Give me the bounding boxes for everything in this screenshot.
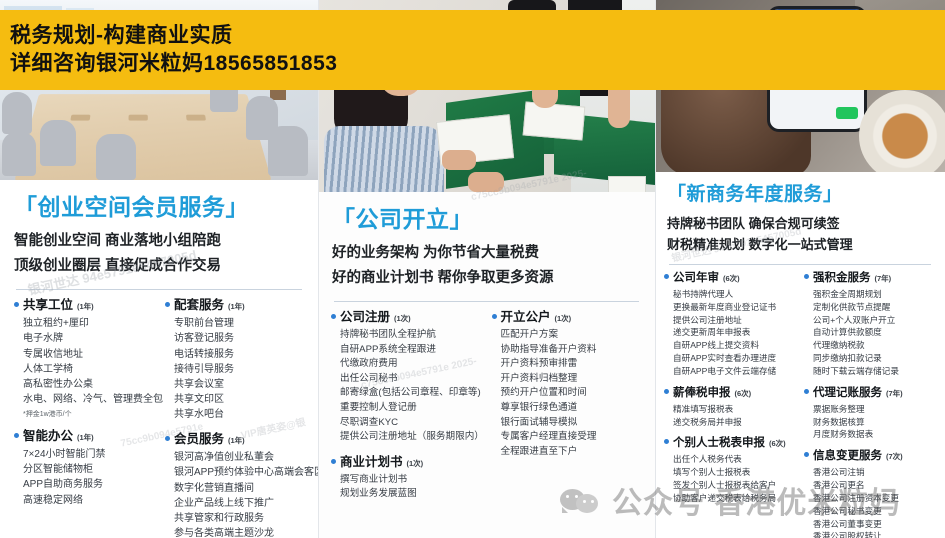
- list-item: 同步缴纳扣款记录: [813, 352, 936, 365]
- banner-line-2: 详细咨询银河米粒妈18565851853: [10, 50, 935, 78]
- list-item: 专职前台管理: [174, 316, 304, 331]
- bullet-icon: [664, 439, 669, 444]
- list-item: APP自助商务服务: [23, 477, 153, 492]
- startup-space-groups: 共享工位 (1年) 独立租约+厘印 电子水牌 专属收信地址 人体工学椅 高私密性…: [0, 290, 318, 538]
- promo-infographic: 「创业空间会员服务」 智能创业空间 商业落地小组陪跑 顶级创业圈层 直接促成合作…: [0, 0, 945, 538]
- list-item: 共享水吧台: [174, 407, 304, 422]
- bullet-icon: [804, 452, 809, 457]
- startup-space-text: 「创业空间会员服务」 智能创业空间 商业落地小组陪跑 顶级创业圈层 直接促成合作…: [0, 180, 318, 290]
- list-item: 7×24小时智能门禁: [23, 447, 153, 462]
- group-company-registration: 公司注册 (1次) 持牌秘书团队全程护航 自研APP系统全程跟进 代缴政府费用 …: [331, 311, 482, 444]
- list-item: 高速稳定网络: [23, 493, 153, 508]
- group-count: (6次): [723, 275, 740, 283]
- list-item: 接待引导服务: [174, 362, 304, 377]
- group-title: 商业计划书: [340, 456, 403, 470]
- list-item: 人体工学椅: [23, 362, 153, 377]
- list-item: 开户资料归档整理: [501, 372, 643, 387]
- group-title: 公司年审: [673, 272, 719, 285]
- bullet-icon: [664, 274, 669, 279]
- list-item: 秘书持牌代理人: [673, 288, 796, 301]
- list-item: 电子水牌: [23, 331, 153, 346]
- group-mpf-service: 强积金服务 (7年) 强积金全周期规划 定制化供款节点提醒 公司+个人双账户开立…: [804, 272, 936, 378]
- group-title: 开立公户: [501, 311, 551, 325]
- list-item: 持牌秘书团队全程护航: [340, 328, 482, 343]
- group-count: (7年): [875, 275, 892, 283]
- group-count: (1次): [394, 315, 411, 323]
- list-item: 参与各类高端主题沙龙: [174, 526, 304, 538]
- group-title: 个别人士税表申报: [673, 437, 765, 450]
- group-title: 强积金服务: [813, 272, 871, 285]
- group-title: 配套服务: [174, 299, 224, 313]
- list-item: 提供公司注册地址: [673, 314, 796, 327]
- list-item: 香港公司注销: [813, 466, 936, 479]
- group-bookkeeping: 代理记账服务 (7年) 票据账务整理 财务数据核算 月度财务数据表: [804, 387, 936, 441]
- list-item: 电话转接服务: [174, 347, 304, 362]
- column-heading: 「新商务年度服务」: [667, 184, 933, 206]
- list-item: 水电、网络、冷气、管理费全包: [23, 392, 153, 407]
- column-subline-2: 财税精准规划 数字化一站式管理: [667, 235, 933, 255]
- list-item: 银河高净值创业私董会: [174, 450, 304, 465]
- group-title: 代理记账服务: [813, 387, 882, 400]
- group-column-left: 共享工位 (1年) 独立租约+厘印 电子水牌 专属收信地址 人体工学椅 高私密性…: [8, 299, 159, 538]
- list-item: 高私密性办公桌: [23, 377, 153, 392]
- list-item: 共享会议室: [174, 377, 304, 392]
- list-item: 财务数据核算: [813, 416, 936, 429]
- group-count: (6次): [735, 390, 752, 398]
- list-item: 自研APP系统全程跟进: [340, 343, 482, 358]
- group-title: 会员服务: [174, 433, 224, 447]
- group-count: (1年): [228, 437, 245, 445]
- group-count: (7次): [886, 453, 903, 461]
- column-subline-1: 持牌秘书团队 确保合规可续签: [667, 214, 933, 234]
- group-title: 信息变更服务: [813, 450, 882, 463]
- bullet-icon: [165, 436, 170, 441]
- column-subline-1: 智能创业空间 商业落地小组陪跑: [14, 230, 304, 252]
- list-item: 尽职调查KYC: [340, 416, 482, 431]
- group-count: (1次): [555, 315, 572, 323]
- list-item: 自研APP线上提交资料: [673, 339, 796, 352]
- list-item: 访客登记服务: [174, 331, 304, 346]
- group-member-services: 会员服务 (1年) 银河高净值创业私董会 银河APP预约体验中心高端会客区 数字…: [165, 433, 304, 538]
- list-item: 填写个别人士报税表: [673, 466, 796, 479]
- watermark-label: 公众号 香港优米粒妈: [612, 478, 900, 522]
- list-item: 规划业务发展蓝图: [340, 487, 482, 502]
- list-item: 精准填写报税表: [673, 403, 796, 416]
- group-count: (1年): [228, 303, 245, 311]
- list-item: 自研APP电子文件云端存储: [673, 365, 796, 378]
- group-bank-account: 开立公户 (1次) 匹配开户方案 协助指导准备开户资料 开户资料预审排雷 开户资…: [492, 311, 643, 459]
- list-item: 专属客户经理直接受理: [501, 430, 643, 445]
- column-subline-2: 顶级创业圈层 直接促成合作交易: [14, 255, 304, 277]
- list-item: 专属收信地址: [23, 347, 153, 362]
- group-count: (6次): [769, 440, 786, 448]
- group-shared-desk: 共享工位 (1年) 独立租约+厘印 电子水牌 专属收信地址 人体工学椅 高私密性…: [14, 299, 153, 419]
- bullet-icon: [664, 389, 669, 394]
- list-item: 提供公司注册地址（服务期限内）: [340, 430, 482, 445]
- annual-service-text: 「新商务年度服务」 持牌秘书团队 确保合规可续签 财税精准规划 数字化一站式管理: [655, 172, 945, 265]
- list-item: 自研APP实时查看办理进度: [673, 352, 796, 365]
- bullet-icon: [165, 302, 170, 307]
- list-item: 独立租约+厘印: [23, 316, 153, 331]
- column-subline-2: 好的商业计划书 帮你争取更多资源: [332, 267, 641, 289]
- group-column-right: 配套服务 (1年) 专职前台管理 访客登记服务 电话转接服务 接待引导服务 共享…: [159, 299, 310, 538]
- group-column-left: 公司注册 (1次) 持牌秘书团队全程护航 自研APP系统全程跟进 代缴政府费用 …: [326, 311, 487, 512]
- list-item: 撰写商业计划书: [340, 473, 482, 488]
- list-item: 银河APP预约体验中心高端会客区: [174, 465, 304, 480]
- group-title: 共享工位: [23, 299, 73, 313]
- list-item: 企业产品线上线下推广: [174, 496, 304, 511]
- list-item: 代缴政府费用: [340, 357, 482, 372]
- list-item: 共享文印区: [174, 392, 304, 407]
- list-item: 公司+个人双账户开立: [813, 314, 936, 327]
- bullet-icon: [331, 314, 336, 319]
- promo-banner: 税务规划-构建商业实质 详细咨询银河米粒妈18565851853: [0, 10, 945, 90]
- list-item: 更换最新年度商业登记证书: [673, 301, 796, 314]
- list-item: 协助指导准备开户资料: [501, 343, 643, 358]
- list-item: 邮寄绿盒(包括公司章程、印章等): [340, 386, 482, 401]
- list-item: 自动计算供款额度: [813, 326, 936, 339]
- column-subline-1: 好的业务架构 为你节省大量税费: [332, 242, 641, 264]
- wechat-account-watermark: 公众号 香港优米粒妈: [560, 478, 900, 522]
- column-heading: 「创业空间会员服务」: [14, 194, 304, 220]
- list-item: 定制化供款节点提醒: [813, 301, 936, 314]
- list-item: 全程跟进直至下户: [501, 445, 643, 460]
- bullet-icon: [14, 302, 19, 307]
- list-item: 共享管家和行政服务: [174, 511, 304, 526]
- group-annual-return: 公司年审 (6次) 秘书持牌代理人 更换最新年度商业登记证书 提供公司注册地址 …: [664, 272, 796, 378]
- list-item: 数字化营销直播间: [174, 481, 304, 496]
- list-item: 月度财务数据表: [813, 428, 936, 441]
- list-item: 尊享银行绿色通道: [501, 401, 643, 416]
- list-item: 重要控制人登记册: [340, 401, 482, 416]
- company-setup-text: 「公司开立」 好的业务架构 为你节省大量税费 好的商业计划书 帮你争取更多资源: [318, 192, 655, 302]
- bullet-icon: [804, 274, 809, 279]
- group-smart-office: 智能办公 (1年) 7×24小时智能门禁 分区智能储物柜 APP自助商务服务 高…: [14, 430, 153, 508]
- list-item: 随时下载云端存储记录: [813, 365, 936, 378]
- column-heading: 「公司开立」: [332, 206, 641, 232]
- list-item: 递交税务局并申报: [673, 416, 796, 429]
- wechat-icon: [560, 487, 604, 513]
- bullet-icon: [804, 389, 809, 394]
- group-title: 公司注册: [340, 311, 390, 325]
- list-item: 匹配开户方案: [501, 328, 643, 343]
- group-support-services: 配套服务 (1年) 专职前台管理 访客登记服务 电话转接服务 接待引导服务 共享…: [165, 299, 304, 422]
- group-count: (7年): [886, 390, 903, 398]
- list-item: 分区智能储物柜: [23, 462, 153, 477]
- banner-line-1: 税务规划-构建商业实质: [10, 22, 935, 50]
- group-title: 薪俸税申报: [673, 387, 731, 400]
- group-salaries-tax: 薪俸税申报 (6次) 精准填写报税表 递交税务局并申报: [664, 387, 796, 428]
- list-item: 强积金全周期规划: [813, 288, 936, 301]
- list-item: 预约开户位置和时间: [501, 386, 643, 401]
- group-count: (1年): [77, 434, 94, 442]
- bullet-icon: [14, 433, 19, 438]
- list-item: 银行面试辅导模拟: [501, 416, 643, 431]
- list-item: 票据账务整理: [813, 403, 936, 416]
- group-business-plan: 商业计划书 (1次) 撰写商业计划书 规划业务发展蓝图: [331, 456, 482, 502]
- bullet-icon: [331, 459, 336, 464]
- list-item: 代理缴纳税款: [813, 339, 936, 352]
- list-item: 出任公司秘书: [340, 372, 482, 387]
- group-count: (1年): [77, 303, 94, 311]
- group-note: *押金1w港币/个: [23, 409, 153, 419]
- list-item: 香港公司股权转让: [813, 530, 936, 538]
- list-item: 开户资料预审排雷: [501, 357, 643, 372]
- list-item: 出任个人税务代表: [673, 453, 796, 466]
- list-item: 递交更新周年申报表: [673, 326, 796, 339]
- group-count: (1次): [407, 460, 424, 468]
- group-title: 智能办公: [23, 430, 73, 444]
- bullet-icon: [492, 314, 497, 319]
